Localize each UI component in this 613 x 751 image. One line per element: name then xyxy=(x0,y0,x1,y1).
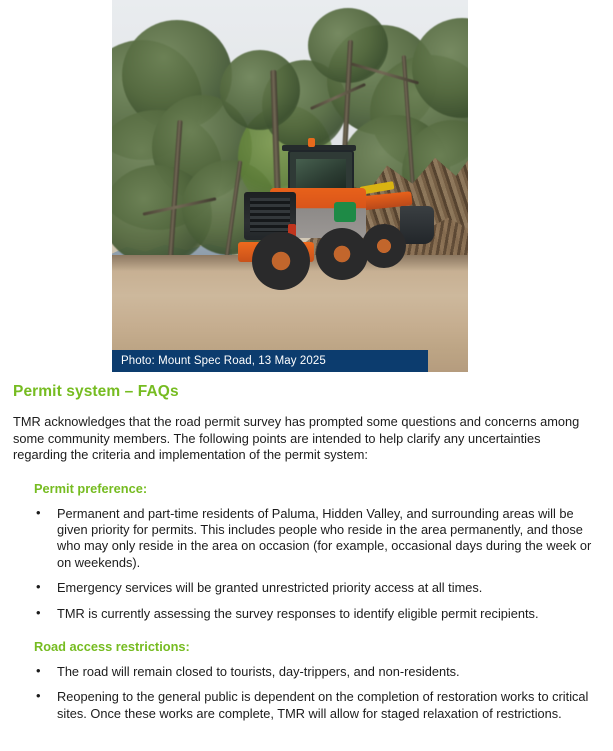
loader-wheel-rear xyxy=(362,224,406,268)
photo-caption-text: Photo: Mount Spec Road, 13 May 2025 xyxy=(112,355,326,367)
wheel-loader xyxy=(230,150,430,280)
loader-wheel-mid xyxy=(316,228,368,280)
list-item: Emergency services will be granted unres… xyxy=(57,580,597,596)
section-heading-permit-system: Permit system – FAQs xyxy=(13,383,613,401)
loader-bucket xyxy=(400,206,434,244)
subsection-heading-road-access-restrictions: Road access restrictions: xyxy=(34,639,613,654)
beacon-light xyxy=(308,138,315,147)
subsection-heading-permit-preference: Permit preference: xyxy=(34,481,613,496)
loader-wheel-front xyxy=(252,232,310,290)
article-content: Permit system – FAQs TMR acknowledges th… xyxy=(0,372,613,731)
list-item: TMR is currently assessing the survey re… xyxy=(57,606,597,622)
permit-preference-list: Permanent and part-time residents of Pal… xyxy=(0,506,613,622)
list-item: Reopening to the general public is depen… xyxy=(57,689,597,722)
article-photo xyxy=(112,0,468,372)
photo-canvas xyxy=(112,0,468,372)
photo-caption-bar: Photo: Mount Spec Road, 13 May 2025 xyxy=(112,350,428,372)
road-access-restrictions-list: The road will remain closed to tourists,… xyxy=(0,664,613,722)
list-item: The road will remain closed to tourists,… xyxy=(57,664,597,680)
intro-paragraph: TMR acknowledges that the road permit su… xyxy=(13,414,584,464)
list-item: Permanent and part-time residents of Pal… xyxy=(57,506,597,572)
